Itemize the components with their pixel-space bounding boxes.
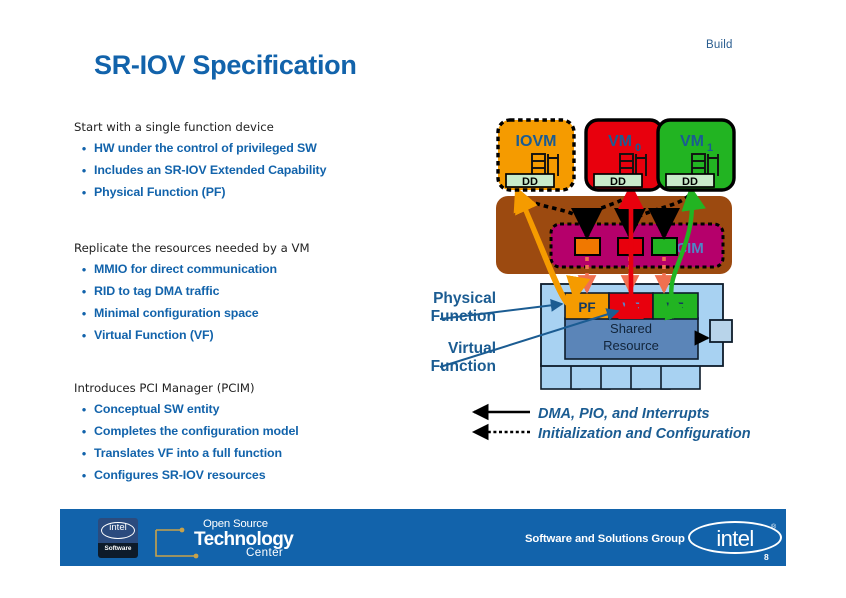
vm-label-vm0: VM [608, 133, 632, 150]
pcim-config-box-orange [575, 238, 600, 255]
function-label-vf0: VF [622, 300, 639, 315]
bullet-dot-icon: • [74, 305, 94, 322]
driver-label-vm0: DD [610, 176, 626, 188]
bullet-dot-icon: • [74, 162, 94, 179]
intel-logo-bottom: Software [98, 543, 138, 558]
bullet-dot-icon: • [74, 401, 94, 418]
function-block-vf1: VF [653, 293, 698, 319]
registered-trademark-mark: ® [771, 524, 776, 531]
list-item: • HW under the control of privileged SW [74, 140, 444, 157]
list-item: • RID to tag DMA traffic [74, 283, 444, 300]
list-item-label: Includes an SR-IOV Extended Capability [94, 162, 326, 179]
intel-logo-top: intel [98, 518, 138, 543]
group-lead: Introduces PCI Manager (PCIM) [74, 381, 444, 395]
legend: DMA, PIO, and Interrupts Initialization … [474, 406, 751, 442]
list-item: • MMIO for direct communication [74, 261, 444, 278]
device-driver-bar-vm1: DD [666, 174, 714, 188]
bullet-dot-icon: • [74, 283, 94, 300]
footer-bar: intel Software Open Source Technology Ce… [60, 509, 786, 566]
list-item: • Completes the configuration model [74, 423, 444, 440]
list-item: • Translates VF into a full function [74, 445, 444, 462]
page-title: SR-IOV Specification [94, 50, 357, 81]
intel-wordmark: intel [688, 526, 782, 552]
list-item-label: HW under the control of privileged SW [94, 140, 317, 157]
callout-virtual-line1: Virtual [448, 340, 496, 357]
open-source-technology-center-logo: Open Source Technology Center [150, 518, 330, 560]
bullet-dot-icon: • [74, 467, 94, 484]
page-number: 8 [764, 552, 769, 562]
bullet-dot-icon: • [74, 261, 94, 278]
device-driver-bar-vm0: DD [594, 174, 642, 188]
list-item: • Conceptual SW entity [74, 401, 444, 418]
software-and-solutions-group-label: Software and Solutions Group [525, 533, 685, 545]
ostc-line3: Center [246, 546, 283, 559]
bullet-dot-icon: • [74, 423, 94, 440]
list-item: • Includes an SR-IOV Extended Capability [74, 162, 444, 179]
vm-subscript-vm1: 1 [707, 142, 713, 154]
legend-label-init: Initialization and Configuration [538, 426, 751, 442]
driver-label-vm1: DD [682, 176, 698, 188]
list-item-label: Completes the configuration model [94, 423, 299, 440]
intel-logo: intel ® [688, 521, 786, 555]
list-item-label: Configures SR-IOV resources [94, 467, 266, 484]
legend-label-dma: DMA, PIO, and Interrupts [538, 406, 710, 422]
shared-resource-block: Shared Resource [565, 318, 698, 359]
list-item-label: Virtual Function (VF) [94, 327, 214, 344]
text-group-1: Start with a single function device • HW… [74, 120, 444, 206]
list-item: • Minimal configuration space [74, 305, 444, 322]
group-lead: Start with a single function device [74, 120, 444, 134]
sriov-architecture-diagram: Shared Resource PF VF VF PCIM [420, 112, 820, 452]
intel-software-logo: intel Software [98, 518, 138, 558]
list-item: • Virtual Function (VF) [74, 327, 444, 344]
software-wordmark: Software [98, 545, 138, 552]
vm-box-vm0[interactable]: VM 0 DD [586, 120, 662, 190]
list-item-label: Physical Function (PF) [94, 184, 225, 201]
slide-canvas: Build SR-IOV Specification Start with a … [0, 0, 846, 598]
list-item-label: Minimal configuration space [94, 305, 259, 322]
function-label-pf: PF [578, 300, 595, 315]
list-item: • Configures SR-IOV resources [74, 467, 444, 484]
build-label: Build [706, 39, 733, 51]
shared-resource-line2: Resource [603, 338, 659, 353]
list-item: • Physical Function (PF) [74, 184, 444, 201]
list-item-label: RID to tag DMA traffic [94, 283, 219, 300]
bullet-dot-icon: • [74, 184, 94, 201]
group-lead: Replicate the resources needed by a VM [74, 241, 444, 255]
driver-label-iovm: DD [522, 176, 538, 188]
text-group-2: Replicate the resources needed by a VM •… [74, 241, 444, 349]
bullet-dot-icon: • [74, 445, 94, 462]
callout-physical-line1: Physical [433, 290, 496, 307]
pcim-config-box-green [652, 238, 677, 255]
vm-label-iovm: IOVM [516, 133, 557, 150]
vm-box-iovm[interactable]: IOVM DD [498, 120, 574, 190]
vm-label-vm1: VM [680, 133, 704, 150]
list-item-label: MMIO for direct communication [94, 261, 277, 278]
device-driver-bar-iovm: DD [506, 174, 554, 188]
function-label-vf1: VF [666, 300, 683, 315]
list-item-label: Conceptual SW entity [94, 401, 219, 418]
bullet-dot-icon: • [74, 327, 94, 344]
text-group-3: Introduces PCI Manager (PCIM) • Conceptu… [74, 381, 444, 489]
intel-wordmark: intel [98, 522, 138, 533]
shared-resource-line1: Shared [610, 321, 652, 336]
list-item-label: Translates VF into a full function [94, 445, 282, 462]
bullet-dot-icon: • [74, 140, 94, 157]
network-port [710, 320, 732, 342]
vm-box-vm1[interactable]: VM 1 DD [658, 120, 734, 190]
vm-subscript-vm0: 0 [635, 142, 641, 154]
